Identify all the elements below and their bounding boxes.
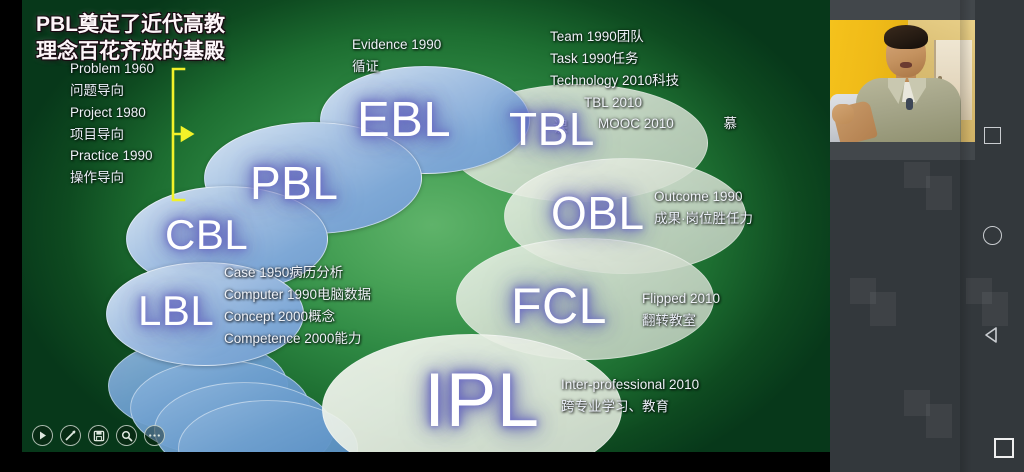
annotate-button[interactable] [60, 425, 81, 446]
square-icon [984, 127, 1001, 144]
ellipse-label-fcl: FCL [511, 281, 607, 331]
annotation-line: MOOC 2010 慕 [550, 113, 737, 135]
person-hair [884, 25, 928, 49]
right-panel [830, 0, 1024, 472]
annotation-line: Concept 2000概念 [224, 306, 371, 328]
ellipse-label-ipl: IPL [424, 363, 540, 439]
annotation-line: Problem 1960 [70, 58, 154, 80]
annotation-ebl: Evidence 1990 循证 [352, 34, 441, 78]
circle-icon [983, 226, 1002, 245]
annotation-line: Competence 2000能力 [224, 328, 371, 350]
deco-block [870, 292, 896, 326]
device-screen: 课 EBL PBL CBL LBL TBL OBL FCL IPL PBL奠定了… [0, 0, 1024, 472]
nav-home-button[interactable] [977, 220, 1007, 250]
slide-title-line-1: PBL奠定了近代高教 [36, 12, 225, 39]
annotation-fcl: Flipped 2010 翻转教室 [642, 288, 720, 332]
slide-toolbar[interactable] [32, 425, 165, 446]
annotation-line: 操作导向 [70, 167, 154, 189]
ellipse-label-pbl: PBL [250, 160, 338, 206]
annotation-line: 跨专业学习、教育 [561, 396, 699, 418]
annotation-pbl: Problem 1960 问题导向 Project 1980 项目导向 Prac… [70, 58, 154, 189]
webcam-panel[interactable] [830, 0, 975, 160]
annotation-line: Outcome 1990 [654, 186, 753, 208]
ellipse-label-ebl: EBL [357, 96, 451, 145]
webcam-letterbox-top [830, 0, 975, 20]
webcam-letterbox-bottom [830, 142, 975, 160]
pen-icon [64, 429, 77, 442]
play-button[interactable] [32, 425, 53, 446]
android-nav-bar[interactable] [960, 0, 1024, 472]
annotation-line: 翻转教室 [642, 310, 720, 332]
annotation-line: Computer 1990电脑数据 [224, 284, 371, 306]
ellipse-label-lbl: LBL [138, 290, 214, 332]
brace-icon [170, 66, 208, 206]
annotation-line: Team 1990团队 [550, 26, 737, 48]
annotation-line: Task 1990任务 [550, 48, 737, 70]
annotation-line: Inter-professional 2010 [561, 374, 699, 396]
ellipse-label-obl: OBL [551, 190, 645, 236]
annotation-mooc: MOOC 2010 [598, 116, 674, 131]
annotation-line: Practice 1990 [70, 145, 154, 167]
annotation-line: Evidence 1990 [352, 34, 441, 56]
presentation-viewer[interactable]: 课 EBL PBL CBL LBL TBL OBL FCL IPL PBL奠定了… [0, 0, 830, 472]
annotation-line: Flipped 2010 [642, 288, 720, 310]
annotation-ipl: Inter-professional 2010 跨专业学习、教育 [561, 374, 699, 418]
save-icon [93, 430, 105, 442]
annotation-cbl: Case 1950病历分析 Computer 1990电脑数据 Concept … [224, 262, 371, 349]
annotation-line: Case 1950病历分析 [224, 262, 371, 284]
annotation-line: 循证 [352, 56, 441, 78]
deco-block [926, 176, 952, 210]
annotation-line: 项目导向 [70, 124, 154, 146]
letterbox-left [0, 0, 22, 472]
annotation-line: Project 1980 [70, 102, 154, 124]
annotation-obl: Outcome 1990 成果·岗位胜任力 [654, 186, 753, 230]
person-hand [832, 104, 854, 124]
annotation-line: 问题导向 [70, 80, 154, 102]
annotation-line: 成果·岗位胜任力 [654, 208, 753, 230]
nav-back-button[interactable] [977, 320, 1007, 350]
save-button[interactable] [88, 425, 109, 446]
search-icon [121, 430, 133, 442]
person-pendant [906, 98, 913, 110]
annotation-line: Technology 2010科技 [550, 70, 737, 92]
annotation-mu: 慕 [678, 116, 738, 131]
ellipse-label-cbl: CBL [165, 214, 248, 256]
zoom-button[interactable] [116, 425, 137, 446]
annotation-tbl: Team 1990团队 Task 1990任务 Technology 2010科… [550, 26, 737, 135]
play-icon [37, 430, 48, 441]
triangle-left-icon [983, 326, 1001, 344]
annotation-line: TBL 2010 [550, 92, 737, 114]
nav-recents-button[interactable] [977, 120, 1007, 150]
more-button[interactable] [144, 425, 165, 446]
person-mouth [900, 62, 912, 68]
more-icon [148, 433, 161, 438]
slide-canvas[interactable]: 课 EBL PBL CBL LBL TBL OBL FCL IPL PBL奠定了… [22, 0, 830, 452]
webcam-video[interactable] [830, 20, 975, 142]
letterbox-bottom [22, 452, 830, 472]
deco-block [926, 404, 952, 438]
